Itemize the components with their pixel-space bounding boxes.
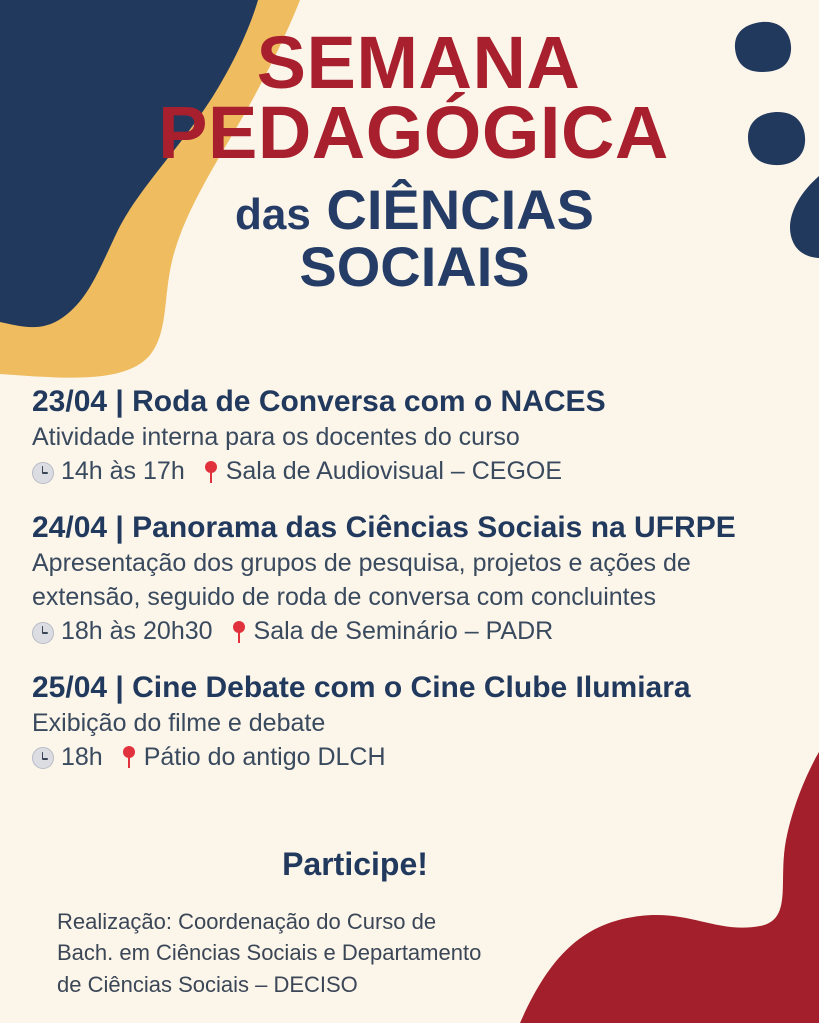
clock-icon: [32, 462, 54, 484]
event-time: 18h: [32, 741, 103, 774]
event-item-1: 23/04 | Roda de Conversa com o NACES Ati…: [32, 384, 807, 488]
subtitle-word-das: das: [235, 190, 311, 239]
event-place-label: Sala de Seminário – PADR: [254, 615, 554, 648]
event-place-label: Sala de Audiovisual – CEGOE: [226, 455, 562, 488]
location-pin-icon: [231, 621, 247, 645]
location-pin-icon: [121, 746, 137, 770]
event-title: 25/04 | Cine Debate com o Cine Clube Ilu…: [32, 670, 807, 705]
event-time-label: 18h às 20h30: [61, 615, 213, 648]
event-place-label: Pátio do antigo DLCH: [144, 741, 386, 774]
event-title: 24/04 | Panorama das Ciências Sociais na…: [32, 510, 807, 545]
event-time-label: 14h às 17h: [61, 455, 185, 488]
subtitle-word-ciencias: CIÊNCIAS: [326, 178, 594, 241]
event-time: 18h às 20h30: [32, 615, 213, 648]
event-place: Sala de Audiovisual – CEGOE: [203, 455, 562, 488]
event-title: 23/04 | Roda de Conversa com o NACES: [32, 384, 807, 419]
footer-line-1: Realização: Coordenação do Curso de: [57, 906, 577, 937]
footer-credits: Realização: Coordenação do Curso de Bach…: [57, 906, 577, 1000]
events-list: 23/04 | Roda de Conversa com o NACES Ati…: [32, 384, 807, 796]
event-description: Exibição do filme e debate: [32, 707, 807, 739]
event-place: Pátio do antigo DLCH: [121, 741, 386, 774]
clock-icon: [32, 747, 54, 769]
footer-line-2: Bach. em Ciências Sociais e Departamento: [57, 937, 577, 968]
footer-line-3: de Ciências Sociais – DECISO: [57, 969, 577, 1000]
event-meta: 18h Pátio do antigo DLCH: [32, 741, 807, 774]
subtitle-line-sociais: SOCIAIS: [10, 238, 819, 295]
poster-canvas: SEMANA PEDAGÓGICA das CIÊNCIAS SOCIAIS 2…: [0, 0, 819, 1023]
subtitle-line-ciencias: das CIÊNCIAS: [10, 181, 819, 238]
event-time-label: 18h: [61, 741, 103, 774]
event-description: Atividade interna para os docentes do cu…: [32, 421, 807, 453]
event-description-line-2: extensão, seguido de roda de conversa co…: [32, 581, 807, 613]
poster-title-block: SEMANA PEDAGÓGICA das CIÊNCIAS SOCIAIS: [0, 28, 819, 295]
event-place: Sala de Seminário – PADR: [231, 615, 554, 648]
event-description-line-1: Apresentação dos grupos de pesquisa, pro…: [32, 547, 807, 579]
event-time: 14h às 17h: [32, 455, 185, 488]
location-pin-icon: [203, 461, 219, 485]
event-item-3: 25/04 | Cine Debate com o Cine Clube Ilu…: [32, 670, 807, 774]
event-meta: 18h às 20h30 Sala de Seminário – PADR: [32, 615, 807, 648]
title-line-semana: SEMANA: [18, 28, 819, 98]
event-meta: 14h às 17h Sala de Audiovisual – CEGOE: [32, 455, 807, 488]
call-to-action-text: Participe!: [0, 846, 710, 883]
event-item-2: 24/04 | Panorama das Ciências Sociais na…: [32, 510, 807, 648]
clock-icon: [32, 622, 54, 644]
title-line-pedagogica: PEDAGÓGICA: [8, 98, 819, 168]
